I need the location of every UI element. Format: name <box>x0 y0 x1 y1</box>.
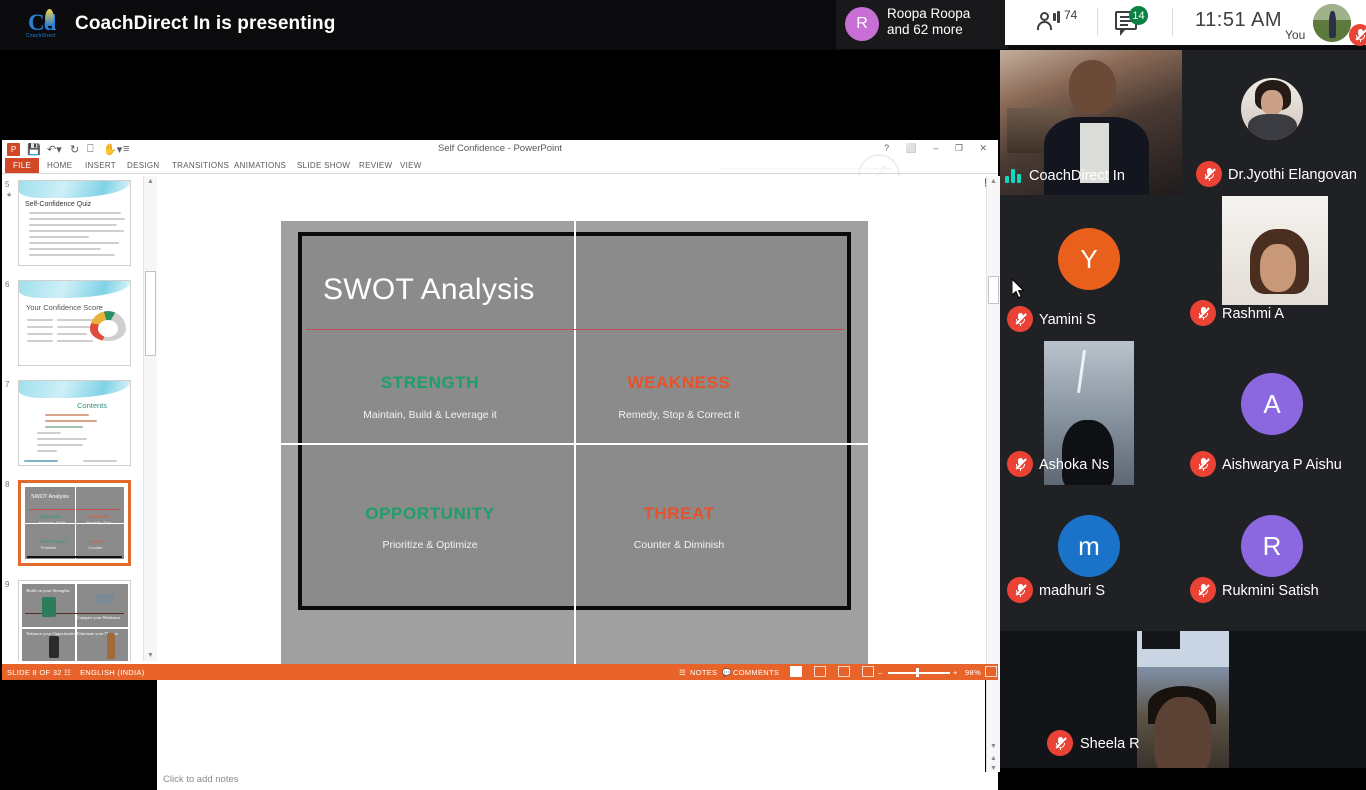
slide-preview[interactable]: Contents <box>18 380 131 466</box>
powerpoint-window: P 💾 ↶▾ ↻ ⎕ ✋▾ ≡ Self Confidence - PowerP… <box>2 140 998 680</box>
chat-button[interactable]: 14 <box>1115 8 1149 36</box>
quadrant-heading-strength[interactable]: STRENGTH <box>325 373 535 393</box>
chat-unread-badge: 14 <box>1129 6 1148 25</box>
participant-tile-aishwarya-p-aishu[interactable]: A Aishwarya P Aishu <box>1183 341 1366 485</box>
self-label: You <box>1285 28 1305 42</box>
logo-subtext: CoachDirect <box>26 33 56 39</box>
slide-number: 6 <box>5 280 9 289</box>
slide-preview-title: Self-Confidence Quiz <box>25 201 91 208</box>
next-slide-icon[interactable]: ▼ <box>990 765 997 772</box>
slide-scrollbar-thumb[interactable] <box>988 276 999 304</box>
notes-pane[interactable]: Click to add notes <box>157 772 998 790</box>
participant-mute-badge <box>1007 451 1033 477</box>
zoom-level[interactable]: 98% <box>965 668 981 677</box>
participants-button[interactable]: 74 <box>1037 10 1077 30</box>
speaking-indicator-icon <box>1005 165 1027 183</box>
notes-placeholder: Click to add notes <box>163 774 239 785</box>
slide-preview[interactable]: Build on your Strengths Conquer your Wea… <box>18 580 131 661</box>
slide-preview-selected[interactable]: SWOT Analysis STRENGTH WEAKNESS Maintain… <box>18 480 131 566</box>
quadrant-subtitle-weakness[interactable]: Remedy, Stop & Correct it <box>574 409 784 421</box>
participant-tile-madhuri-s[interactable]: m madhuri S <box>1000 486 1182 630</box>
scroll-down-icon[interactable]: ▼ <box>147 652 154 659</box>
mic-off-icon <box>1055 737 1066 750</box>
ribbon-tab-view[interactable]: VIEW <box>400 158 422 174</box>
reading-view-icon[interactable] <box>838 666 850 677</box>
participant-mute-badge <box>1047 730 1073 756</box>
participant-mute-badge <box>1196 161 1222 187</box>
participant-mute-badge <box>1190 300 1216 326</box>
quadrant-heading-opportunity[interactable]: OPPORTUNITY <box>325 504 535 524</box>
animation-star-icon: ★ <box>6 191 12 199</box>
participant-avatar: R <box>1241 515 1303 577</box>
slide-thumbnail-panel[interactable]: 5 ★ Self-Confidence Quiz 6 Your Confiden… <box>2 176 142 661</box>
slide-preview-title: Contents <box>77 401 107 410</box>
scroll-down-icon[interactable]: ▼ <box>990 743 997 750</box>
meeting-clock: 11:51 AM <box>1195 9 1282 32</box>
previous-slide-icon[interactable]: ▲ <box>990 755 997 762</box>
zoom-slider-knob[interactable] <box>916 668 919 677</box>
participant-count: 74 <box>1064 8 1077 22</box>
ribbon-tab-slide-show[interactable]: SLIDE SHOW <box>297 158 350 174</box>
spelling-icon[interactable]: ☷ <box>64 668 71 677</box>
mic-off-icon <box>1198 458 1209 471</box>
participant-tile-ashoka-ns[interactable]: Ashoka Ns <box>1000 341 1182 485</box>
participant-tile-dr-jyothi-elangovan[interactable]: Dr.Jyothi Elangovan <box>1183 45 1366 195</box>
self-mute-icon[interactable] <box>1349 24 1366 46</box>
ribbon-tab-file[interactable]: FILE <box>5 158 39 174</box>
slide-preview[interactable]: Your Confidence Score <box>18 280 131 366</box>
quadrant-heading-threat[interactable]: THREAT <box>574 504 784 524</box>
slide-editing-stage[interactable]: SWOT Analysis STRENGTH Maintain, Build &… <box>157 176 985 772</box>
coachdirect-logo: Cd CoachDirect <box>28 8 60 42</box>
mic-off-icon <box>1015 458 1026 471</box>
meeting-top-bar: Cd CoachDirect CoachDirect In is present… <box>0 0 1366 50</box>
active-speaker-name-line2: and 62 more <box>887 22 1005 38</box>
slide-preview[interactable]: Self-Confidence Quiz <box>18 180 131 266</box>
participant-name: Rashmi A <box>1222 306 1284 322</box>
controls-divider-2 <box>1172 8 1173 36</box>
mic-off-icon <box>1198 584 1209 597</box>
active-speaker-name-line1: Roopa Roopa <box>887 6 1005 22</box>
slide-indicator[interactable]: SLIDE 8 OF 32 <box>7 668 62 677</box>
ribbon-tab-animations[interactable]: ANIMATIONS <box>234 158 286 174</box>
participant-mute-badge <box>1190 577 1216 603</box>
meeting-controls-pod: 74 14 11:51 AM You <box>1005 0 1366 45</box>
active-speaker-chip[interactable]: R Roopa Roopa and 62 more <box>836 0 1008 49</box>
participant-name: Sheela R <box>1080 736 1140 752</box>
participant-tile-yamini-s[interactable]: Y Yamini S <box>1000 196 1182 340</box>
window-title: Self Confidence - PowerPoint <box>2 143 998 154</box>
participant-tile-rashmi-a[interactable]: Rashmi A <box>1183 196 1366 340</box>
participant-avatar: Y <box>1058 228 1120 290</box>
slide-number: 7 <box>5 380 9 389</box>
zoom-out-icon[interactable]: – <box>878 668 882 677</box>
participant-tile-rukmini-satish[interactable]: R Rukmini Satish <box>1183 486 1366 630</box>
quadrant-heading-weakness[interactable]: WEAKNESS <box>574 373 784 393</box>
people-icon <box>1037 10 1063 30</box>
ribbon-tab-design[interactable]: DESIGN <box>127 158 159 174</box>
comments-button[interactable]: COMMENTS <box>733 668 779 677</box>
participant-mute-badge <box>1007 577 1033 603</box>
participant-name: Ashoka Ns <box>1039 457 1109 473</box>
ribbon-tab-home[interactable]: HOME <box>47 158 72 174</box>
thumbnail-scrollbar[interactable]: ▲ ▼ <box>143 176 157 661</box>
quadrant-subtitle-strength[interactable]: Maintain, Build & Leverage it <box>325 409 535 421</box>
fit-slide-to-window-icon[interactable] <box>985 666 997 677</box>
mouse-cursor <box>1012 279 1026 298</box>
participant-name: Dr.Jyothi Elangovan <box>1228 167 1357 183</box>
window-controls[interactable]: ? ⬜ – ❐ ✕ <box>884 143 994 154</box>
slide-sorter-icon[interactable] <box>814 666 826 677</box>
quadrant-subtitle-opportunity[interactable]: Prioritize & Optimize <box>325 539 535 551</box>
gauge-graphic <box>90 311 126 341</box>
slide-guide-horizontal <box>281 443 868 445</box>
ribbon-tab-transitions[interactable]: TRANSITIONS <box>172 158 229 174</box>
notes-button[interactable]: NOTES <box>690 668 717 677</box>
notes-button-icon[interactable]: ☰ <box>679 668 686 677</box>
participant-avatar <box>1241 78 1303 140</box>
slide-number: 5 <box>5 180 9 189</box>
current-slide[interactable]: SWOT Analysis STRENGTH Maintain, Build &… <box>281 221 868 665</box>
participant-name: Aishwarya P Aishu <box>1222 457 1342 473</box>
thumbnail-scrollbar-thumb[interactable] <box>145 271 156 356</box>
mic-off-icon <box>1204 168 1215 181</box>
participant-name: CoachDirect In <box>1029 168 1125 184</box>
powerpoint-status-bar: SLIDE 8 OF 32 ☷ ENGLISH (INDIA) ☰ NOTES … <box>2 664 998 680</box>
comments-button-icon[interactable]: 💬 <box>722 668 732 677</box>
mic-off-icon <box>1015 584 1026 597</box>
participant-name: Rukmini Satish <box>1222 583 1319 599</box>
slide-scrollbar[interactable]: ▲ ▼ ▲ ▼ <box>986 176 1000 772</box>
normal-view-icon[interactable] <box>790 666 802 677</box>
zoom-slider-track[interactable] <box>888 672 950 674</box>
participant-video <box>1137 631 1229 768</box>
participant-video <box>1222 196 1328 305</box>
slide-number: 8 <box>5 480 9 489</box>
language-indicator[interactable]: ENGLISH (INDIA) <box>80 668 145 677</box>
ribbon-tab-insert[interactable]: INSERT <box>85 158 116 174</box>
controls-divider-1 <box>1097 8 1098 36</box>
participant-mute-badge <box>1007 306 1033 332</box>
scroll-up-icon[interactable]: ▲ <box>147 178 154 185</box>
mic-off-icon <box>1015 313 1026 326</box>
flame-icon <box>45 9 54 26</box>
participant-tile-sheela-r[interactable]: Sheela R <box>1000 631 1366 768</box>
zoom-in-icon[interactable]: + <box>953 668 958 677</box>
participant-tile-coachdirect-in[interactable]: CoachDirect In <box>1000 45 1182 195</box>
swot-images-mini-graphic: Build on your Strengths Conquer your Wea… <box>21 583 128 661</box>
active-speaker-name: Roopa Roopa and 62 more <box>887 6 1005 38</box>
participant-name: Yamini S <box>1039 312 1096 328</box>
participant-avatar: m <box>1058 515 1120 577</box>
swot-mini-graphic: SWOT Analysis STRENGTH WEAKNESS Maintain… <box>24 486 125 560</box>
scroll-up-icon[interactable]: ▲ <box>990 178 997 185</box>
participant-avatar: A <box>1241 373 1303 435</box>
quadrant-subtitle-threat[interactable]: Counter & Diminish <box>574 539 784 551</box>
participant-grid: CoachDirect In Dr.Jyothi Elangovan Y Yam… <box>1000 45 1366 768</box>
self-avatar[interactable] <box>1313 4 1351 42</box>
participant-mute-badge <box>1190 451 1216 477</box>
title-underline-rule <box>306 329 844 330</box>
presenting-banner: CoachDirect In is presenting <box>75 13 335 35</box>
slideshow-icon[interactable] <box>862 666 874 677</box>
participant-name: madhuri S <box>1039 583 1105 599</box>
slide-preview-title: SWOT Analysis <box>31 494 69 500</box>
slide-title[interactable]: SWOT Analysis <box>323 273 535 307</box>
slide-preview-title: Your Confidence Score <box>26 303 103 312</box>
active-speaker-avatar: R <box>845 7 879 41</box>
mic-off-icon <box>1355 29 1366 42</box>
ribbon-tab-review[interactable]: REVIEW <box>359 158 392 174</box>
slide-number: 9 <box>5 580 9 589</box>
mic-off-icon <box>1198 307 1209 320</box>
